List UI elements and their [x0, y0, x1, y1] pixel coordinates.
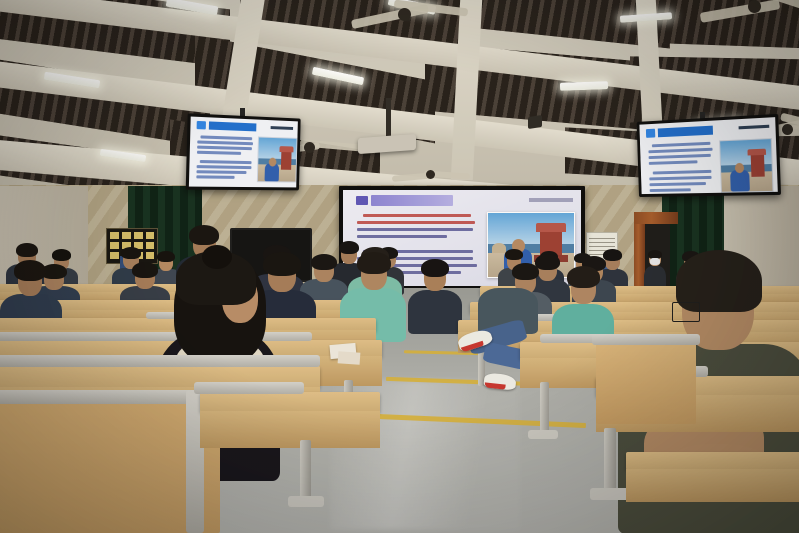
projector-mount-rod — [386, 98, 391, 140]
slide-text-line — [196, 170, 246, 173]
slide-text-line — [197, 151, 241, 155]
paper-sheet — [338, 351, 361, 365]
sneaker — [483, 372, 516, 390]
slide-text-line — [652, 142, 711, 147]
slide-text-line — [357, 235, 447, 238]
left-monitor-screen — [189, 117, 298, 188]
slide-text-line — [196, 175, 234, 178]
desk-row-front-right-lower — [626, 452, 799, 502]
slide-corner-logo — [271, 126, 294, 130]
lecture-hall-photo — [0, 0, 799, 533]
slide-text-line — [200, 135, 252, 139]
slide-text-line — [357, 228, 473, 231]
slide-corner-logo — [739, 125, 770, 130]
slide-text-line — [649, 154, 711, 159]
photo-red-tower — [281, 150, 292, 170]
slide-text-line — [197, 140, 253, 144]
slide-title-bar — [658, 126, 713, 138]
slide-text-line — [357, 221, 475, 224]
desk-leg — [604, 428, 616, 494]
slide-text-line — [650, 188, 691, 192]
slide-text-line — [648, 148, 712, 154]
slide-corner-logo — [529, 198, 573, 202]
desk-foot — [590, 488, 630, 500]
slide-text-line — [197, 165, 252, 169]
right-monitor-screen — [639, 117, 777, 194]
eyeglasses — [672, 302, 700, 322]
left-wall-monitor — [186, 113, 301, 190]
right-wall-monitor — [637, 114, 781, 197]
slide-text-line — [200, 160, 252, 164]
desk-foot — [528, 430, 558, 439]
slide-text-line — [197, 146, 252, 150]
slide-bullet-icon — [646, 129, 655, 138]
photo-red-tower — [751, 153, 765, 177]
photo-red-tower-roof — [536, 223, 566, 232]
slide-photo-seaside — [719, 138, 773, 193]
photo-red-tower-roof — [747, 149, 766, 156]
ceiling-projector — [358, 134, 416, 154]
slide-title-bar — [209, 121, 257, 131]
desk-row-front-left-2 — [200, 392, 380, 448]
audience-member — [408, 264, 462, 330]
slide-title-bar — [371, 195, 453, 206]
slide-bullet-icon — [356, 196, 368, 205]
slide-text-line — [649, 182, 705, 186]
desk-foot — [288, 496, 324, 507]
slide-photo-seaside — [257, 136, 298, 182]
slide-text-line — [649, 160, 698, 165]
slide-text-line — [363, 214, 471, 217]
wall-speaker — [528, 115, 542, 129]
desk-leg — [540, 382, 549, 434]
slide-text-line — [653, 170, 712, 175]
desk-leg — [300, 440, 311, 502]
seat-back-right — [596, 338, 696, 436]
slide-text-line — [649, 176, 711, 181]
fluorescent-light-strip — [560, 81, 608, 91]
hair-bun — [202, 245, 232, 269]
slide-bullet-icon — [197, 121, 206, 130]
seat-back-nearest — [0, 400, 220, 533]
door-header-frame — [634, 212, 678, 224]
photo-red-tower-roof — [279, 146, 293, 152]
